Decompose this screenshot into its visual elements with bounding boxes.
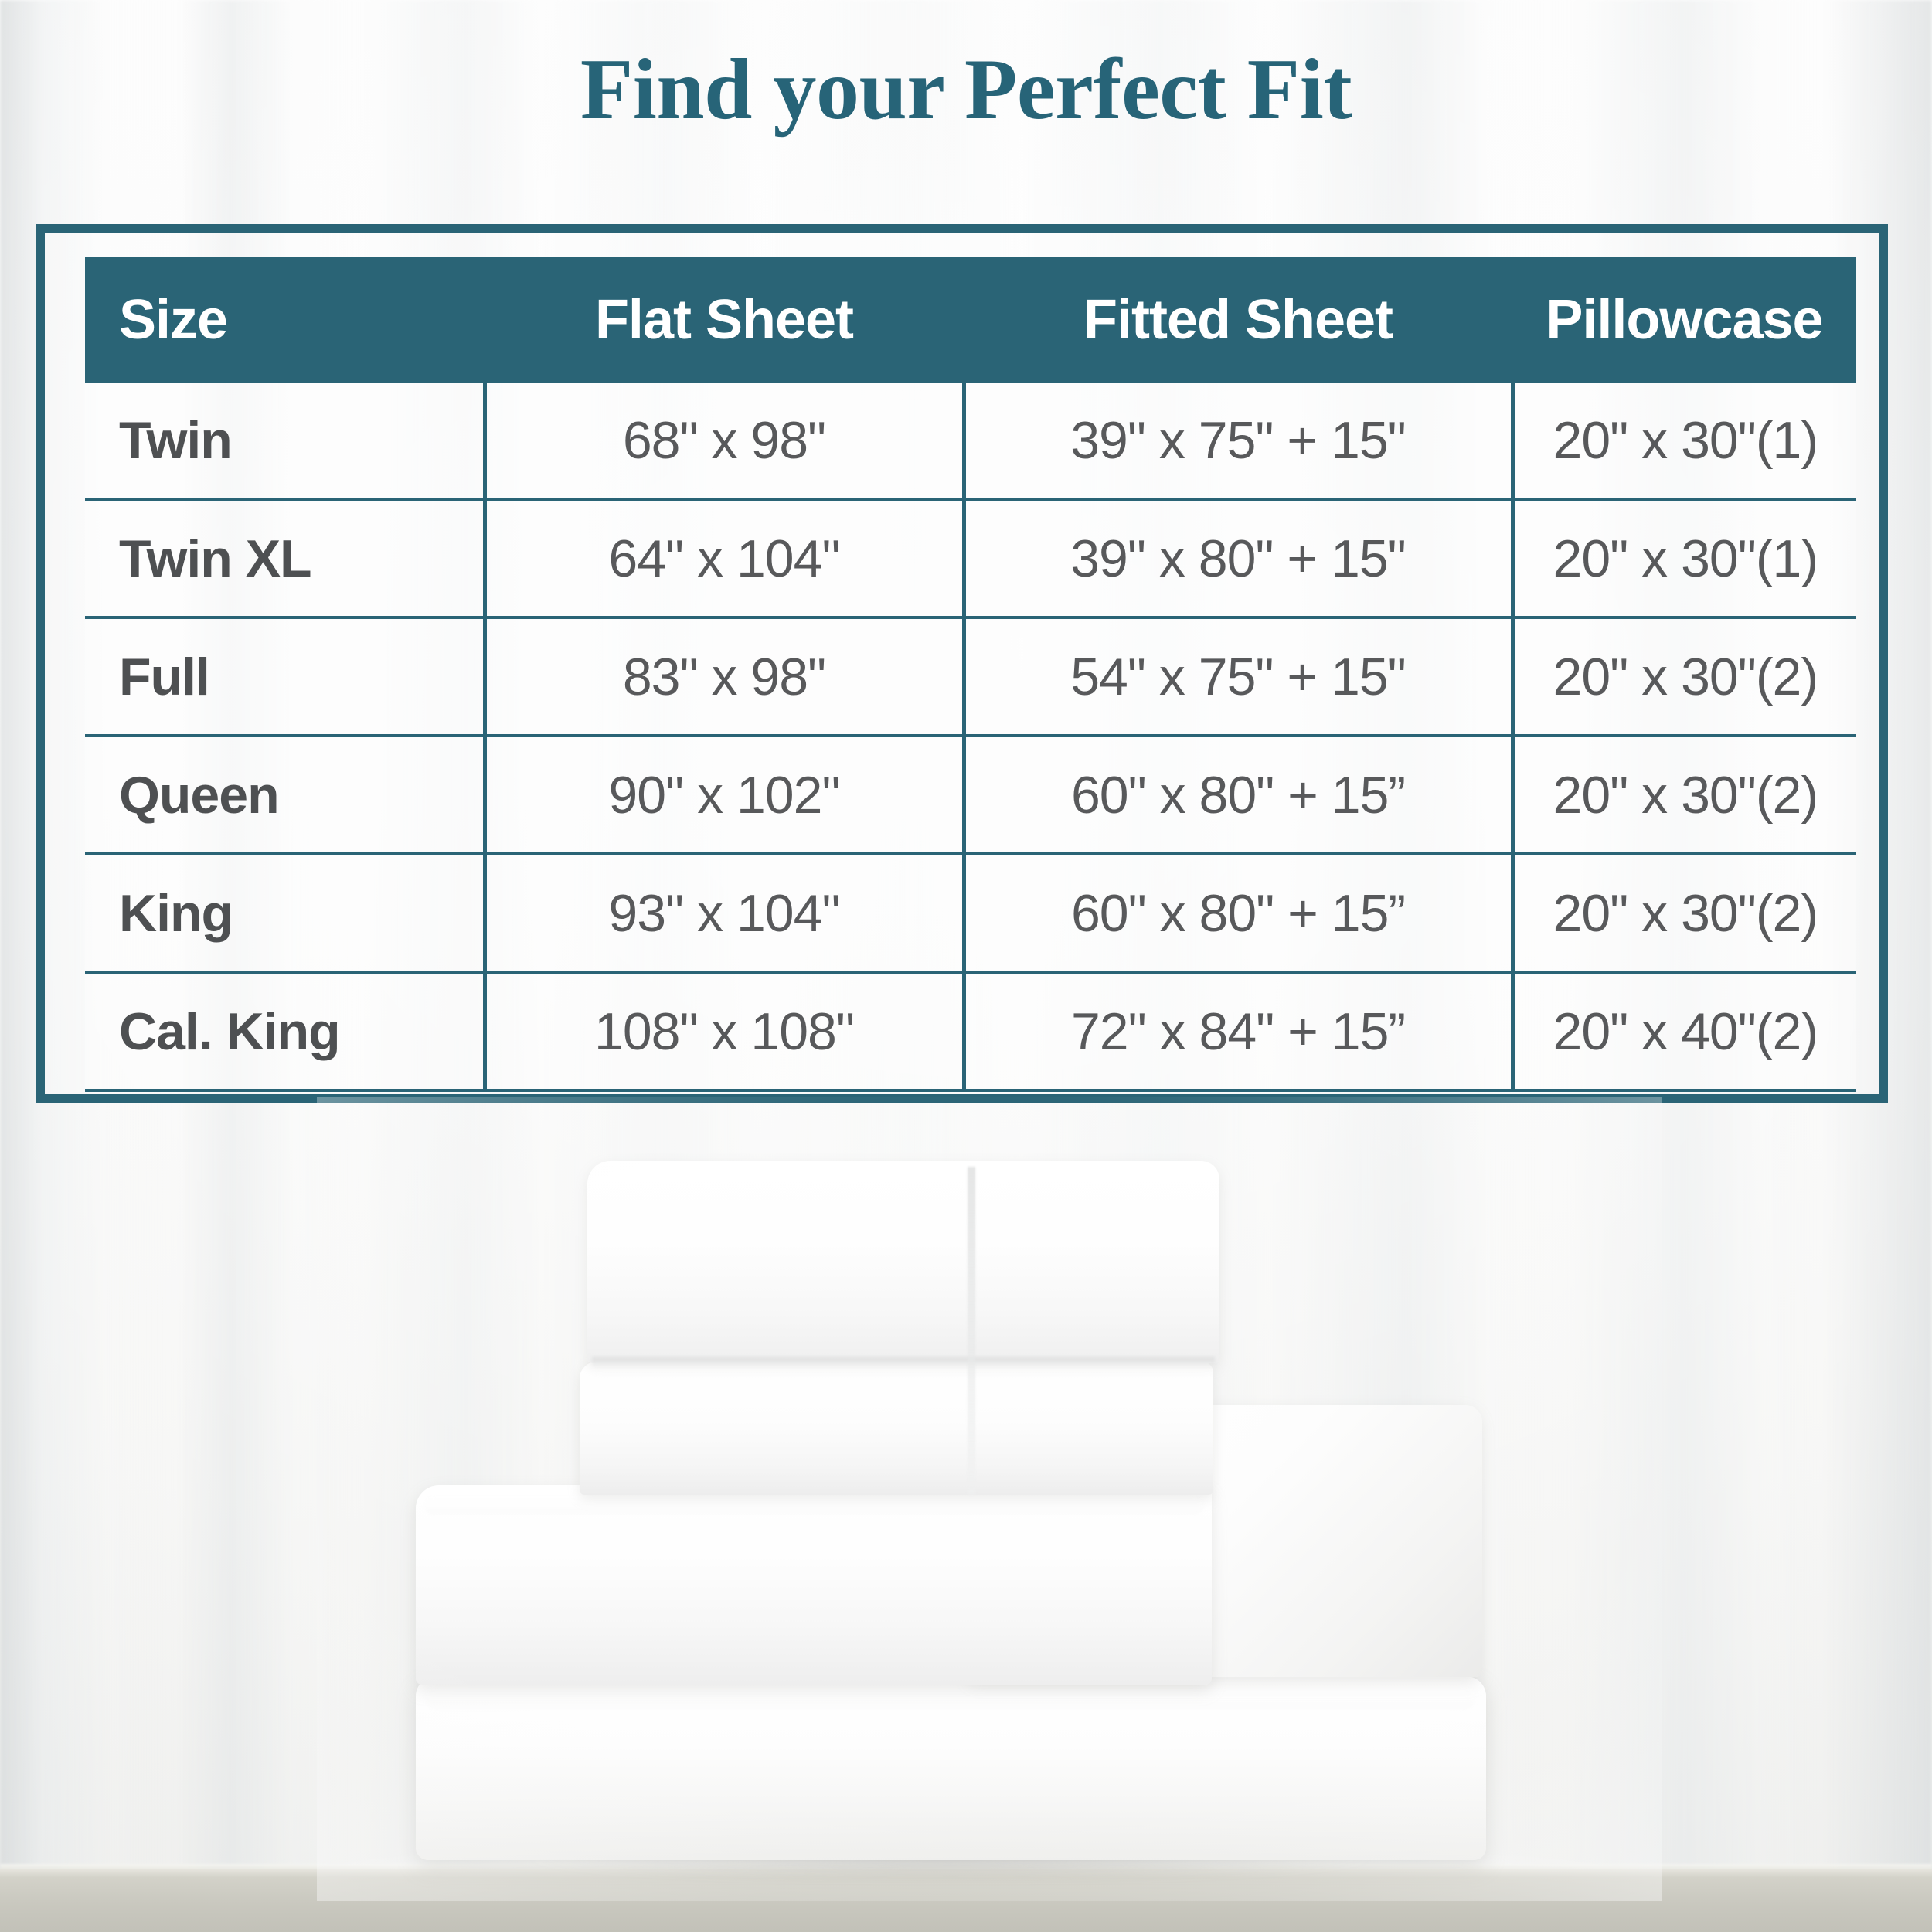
cell-flat-sheet: 93" x 104" [485, 854, 964, 972]
cell-size: Twin [85, 383, 485, 499]
cell-pillowcase: 20" x 30"(1) [1512, 499, 1856, 617]
table-header-row: Size Flat Sheet Fitted Sheet Pillowcase [85, 257, 1856, 383]
cell-pillowcase: 20" x 30"(1) [1512, 383, 1856, 499]
bottom-sheet-fold-line [425, 1686, 1476, 1709]
size-chart-body: Twin 68" x 98" 39" x 75" + 15" 20" x 30"… [85, 383, 1856, 1090]
table-row: Twin XL 64" x 104" 39" x 80" + 15" 20" x… [85, 499, 1856, 617]
cell-flat-sheet: 108" x 108" [485, 972, 964, 1090]
cell-fitted-sheet: 60" x 80" + 15” [964, 854, 1512, 972]
cell-size: Full [85, 617, 485, 736]
cell-fitted-sheet: 54" x 75" + 15" [964, 617, 1512, 736]
cell-size: Twin XL [85, 499, 485, 617]
table-row: Cal. King 108" x 108" 72" x 84" + 15” 20… [85, 972, 1856, 1090]
page-title: Find your Perfect Fit [0, 45, 1932, 136]
cell-flat-sheet: 64" x 104" [485, 499, 964, 617]
table-row: King 93" x 104" 60" x 80" + 15” 20" x 30… [85, 854, 1856, 972]
flat-sheet-fold-line [423, 1495, 1204, 1515]
cell-fitted-sheet: 60" x 80" + 15” [964, 736, 1512, 854]
size-chart-infographic: Find your Perfect Fit Size Flat Sheet Fi… [0, 0, 1932, 1932]
cell-fitted-sheet: 72" x 84" + 15” [964, 972, 1512, 1090]
column-header-size: Size [85, 257, 485, 383]
column-header-pillowcase: Pillowcase [1512, 257, 1856, 383]
cell-pillowcase: 20" x 30"(2) [1512, 736, 1856, 854]
pillowcase-second [580, 1362, 1213, 1495]
cell-flat-sheet: 90" x 102" [485, 736, 964, 854]
size-chart-inner: Size Flat Sheet Fitted Sheet Pillowcase … [85, 257, 1856, 1071]
cell-size: Cal. King [85, 972, 485, 1090]
table-row: Queen 90" x 102" 60" x 80" + 15” 20" x 3… [85, 736, 1856, 854]
size-chart-frame: Size Flat Sheet Fitted Sheet Pillowcase … [36, 224, 1888, 1103]
table-row: Full 83" x 98" 54" x 75" + 15" 20" x 30"… [85, 617, 1856, 736]
column-header-flat-sheet: Flat Sheet [485, 257, 964, 383]
cell-fitted-sheet: 39" x 80" + 15" [964, 499, 1512, 617]
cell-size: Queen [85, 736, 485, 854]
cell-fitted-sheet: 39" x 75" + 15" [964, 383, 1512, 499]
size-chart-head: Size Flat Sheet Fitted Sheet Pillowcase [85, 257, 1856, 383]
size-chart-table: Size Flat Sheet Fitted Sheet Pillowcase … [85, 257, 1856, 1092]
column-header-fitted-sheet: Fitted Sheet [964, 257, 1512, 383]
pillowcase-hem-seam [968, 1167, 975, 1495]
cell-pillowcase: 20" x 30"(2) [1512, 854, 1856, 972]
cell-pillowcase: 20" x 40"(2) [1512, 972, 1856, 1090]
pillowcase-divider [592, 1357, 1215, 1368]
pillowcase-top [587, 1161, 1219, 1363]
cell-flat-sheet: 68" x 98" [485, 383, 964, 499]
cell-size: King [85, 854, 485, 972]
product-photo-sheet-stack [332, 1113, 1646, 1886]
cell-flat-sheet: 83" x 98" [485, 617, 964, 736]
cell-pillowcase: 20" x 30"(2) [1512, 617, 1856, 736]
table-row: Twin 68" x 98" 39" x 75" + 15" 20" x 30"… [85, 383, 1856, 499]
